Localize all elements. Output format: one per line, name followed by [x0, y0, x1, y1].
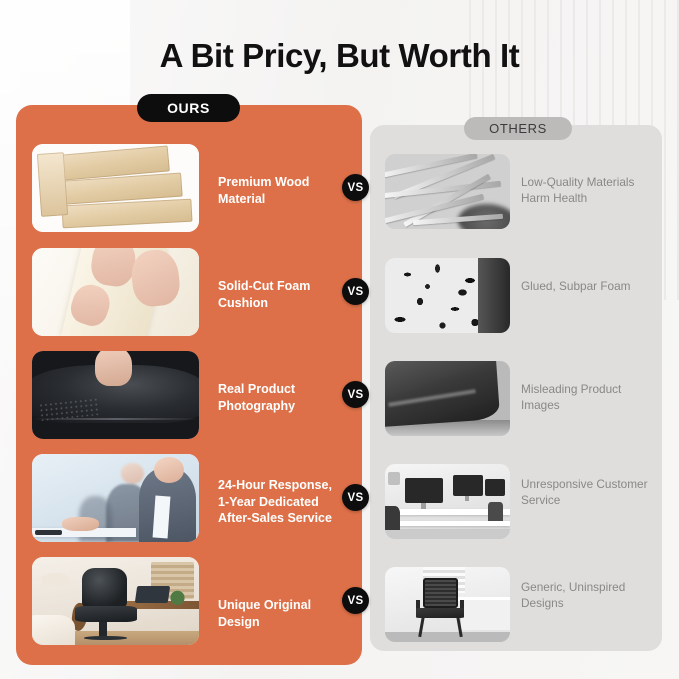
others-badge: OTHERS: [464, 117, 572, 140]
ours-feature-label: Solid-Cut Foam Cushion: [218, 278, 346, 311]
empty-office-desks-photo: [385, 464, 510, 539]
others-drawback-label: Low-Quality Materials Harm Health: [521, 174, 656, 207]
vs-badge: VS: [342, 174, 369, 201]
others-drawback-label: Misleading Product Images: [521, 381, 656, 414]
generic-mesh-chair-photo: [385, 567, 510, 642]
others-drawback-label: Generic, Uninspired Designs: [521, 579, 656, 612]
scrap-wood-pile-photo: [385, 154, 510, 229]
others-drawback-label: Unresponsive Customer Service: [521, 476, 656, 509]
ours-feature-label: Real Product Photography: [218, 381, 346, 414]
ours-feature-label: 24-Hour Response, 1-Year Dedicated After…: [218, 477, 346, 527]
vs-badge: VS: [342, 381, 369, 408]
hands-pressing-solid-foam-photo: [32, 248, 199, 336]
ours-feature-label: Unique Original Design: [218, 597, 346, 630]
hand-pressing-leather-cushion-photo: [32, 351, 199, 439]
vs-badge: VS: [342, 278, 369, 305]
vs-badge: VS: [342, 484, 369, 511]
dark-cushion-corner-photo: [385, 361, 510, 436]
customer-service-agents-photo: [32, 454, 199, 542]
vs-badge: VS: [342, 587, 369, 614]
black-office-chair-home-office-photo: [32, 557, 199, 645]
ours-badge: OURS: [137, 94, 240, 122]
page-title: A Bit Pricy, But Worth It: [0, 37, 679, 75]
stacked-lumber-planks-photo: [32, 144, 199, 232]
others-drawback-label: Glued, Subpar Foam: [521, 278, 656, 294]
shredded-glued-foam-texture-photo: [385, 258, 510, 333]
ours-feature-label: Premium Wood Material: [218, 174, 346, 207]
